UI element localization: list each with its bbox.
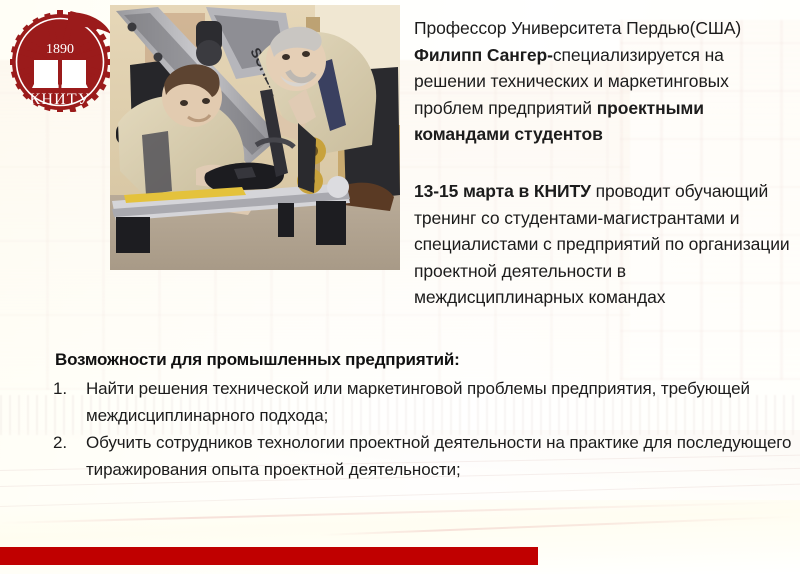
opportunities-heading: Возможности для промышленных предприятий… xyxy=(55,350,460,370)
list-item-text: Обучить сотрудников технологии проектной… xyxy=(86,429,793,483)
knitu-logo-svg: 1890 КНИТУ xyxy=(10,8,114,112)
p1-name-bold: Филипп Сангер- xyxy=(414,45,553,65)
list-item-text: Найти решения технической или маркетинго… xyxy=(86,375,793,429)
training-photo-svg: SCHEPP xyxy=(110,5,400,270)
list-item: 2. Обучить сотрудников технологии проект… xyxy=(53,429,793,483)
p1-text-lead: Профессор Университета Пердью(США) xyxy=(414,18,741,38)
list-item-number: 1. xyxy=(53,375,86,429)
opportunities-list: 1. Найти решения технической или маркети… xyxy=(53,375,793,483)
list-item-number: 2. xyxy=(53,429,86,483)
knitu-logo: 1890 КНИТУ xyxy=(10,8,114,112)
open-book-icon xyxy=(32,60,88,88)
paragraph-training-dates: 13-15 марта в КНИТУ проводит обучающий т… xyxy=(414,178,796,311)
training-photo: SCHEPP xyxy=(110,5,400,270)
slide-canvas: 1890 КНИТУ xyxy=(0,0,800,574)
logo-year: 1890 xyxy=(46,42,74,57)
bottom-red-bar xyxy=(0,547,538,565)
list-item: 1. Найти решения технической или маркети… xyxy=(53,375,793,429)
logo-acronym: КНИТУ xyxy=(30,91,91,108)
p2-dates-bold: 13-15 марта в КНИТУ xyxy=(414,181,591,201)
paragraph-professor: Профессор Университета Пердью(США) Филип… xyxy=(414,15,796,148)
